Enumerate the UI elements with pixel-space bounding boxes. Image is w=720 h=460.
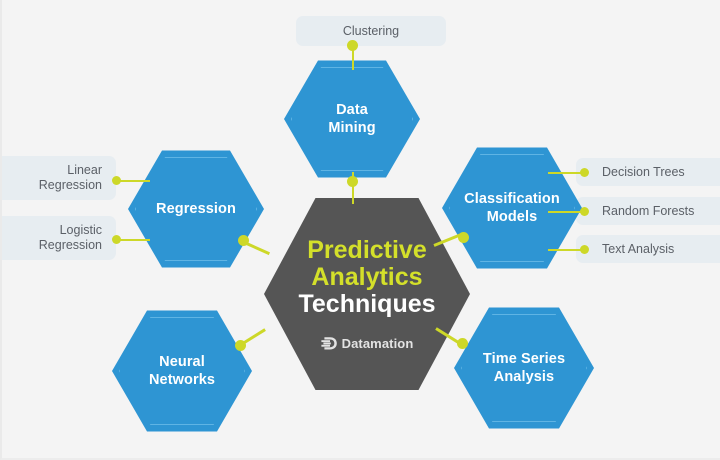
connector-dot-classification <box>458 232 469 243</box>
leaf-pill-random-forests[interactable]: Random Forests <box>576 197 720 225</box>
leaf-pill-text-analysis[interactable]: Text Analysis <box>576 235 720 263</box>
infographic-canvas: Clustering Linear Regression Logistic Re… <box>0 0 720 460</box>
node-hex-time-series-analysis[interactable]: Time Series Analysis <box>454 305 594 431</box>
node-hex-classification-models[interactable]: Classification Models <box>442 145 582 271</box>
leaf-label-linear-regression: Linear Regression <box>39 163 102 193</box>
connector-dot-decision-trees <box>580 168 589 177</box>
connector-dot-logistic-regression <box>112 235 121 244</box>
node-label-classification-models: Classification Models <box>464 190 560 226</box>
leaf-pill-clustering[interactable]: Clustering <box>296 16 446 46</box>
connector-dot-regression <box>238 235 249 246</box>
node-hex-regression[interactable]: Regression <box>128 148 264 270</box>
center-title-line-1: Predictive <box>307 237 427 264</box>
connector-dot-clustering <box>347 40 358 51</box>
connector-dot-neural-networks <box>235 340 246 351</box>
leaf-pill-decision-trees[interactable]: Decision Trees <box>576 158 720 186</box>
node-hex-data-mining[interactable]: Data Mining <box>284 58 420 180</box>
node-label-data-mining: Data Mining <box>328 101 375 137</box>
node-label-neural-networks: Neural Networks <box>149 353 215 389</box>
datamation-logo: Datamation <box>321 336 414 351</box>
datamation-brand-text: Datamation <box>342 336 414 351</box>
connector-dot-linear-regression <box>112 176 121 185</box>
node-hex-neural-networks[interactable]: Neural Networks <box>112 308 252 434</box>
center-hex-predictive-analytics-techniques[interactable]: Predictive Analytics Techniques Datamati… <box>264 198 470 390</box>
connector-dot-random-forests <box>580 207 589 216</box>
leaf-label-random-forests: Random Forests <box>602 204 694 219</box>
connector-dot-text-analysis <box>580 245 589 254</box>
datamation-d-logo-icon <box>321 336 338 351</box>
center-title-line-3: Techniques <box>298 291 435 318</box>
leaf-label-text-analysis: Text Analysis <box>602 242 674 257</box>
leaf-label-decision-trees: Decision Trees <box>602 165 685 180</box>
leaf-label-clustering: Clustering <box>343 24 399 39</box>
leaf-pill-logistic-regression[interactable]: Logistic Regression <box>0 216 116 260</box>
connector-dot-data-mining-bottom <box>347 176 358 187</box>
leaf-pill-linear-regression[interactable]: Linear Regression <box>0 156 116 200</box>
node-label-regression: Regression <box>156 200 236 218</box>
leaf-label-logistic-regression: Logistic Regression <box>39 223 102 253</box>
connector-dot-time-series <box>457 338 468 349</box>
center-title-line-2: Analytics <box>311 264 422 291</box>
node-label-time-series-analysis: Time Series Analysis <box>483 350 565 386</box>
